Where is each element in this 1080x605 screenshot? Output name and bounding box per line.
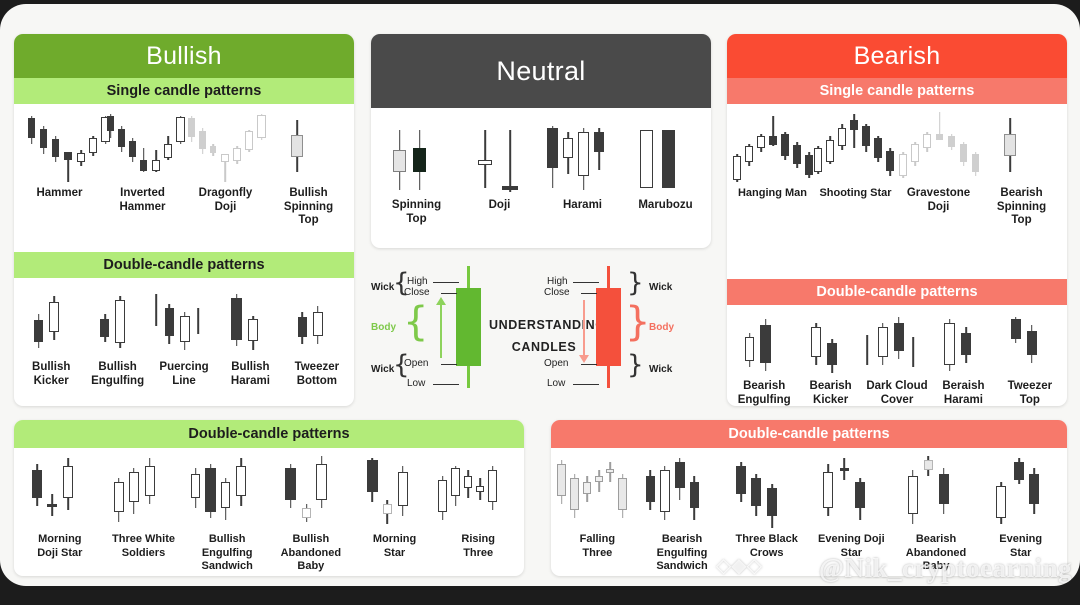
red-wick-top-label: Wick (649, 282, 672, 293)
red-body-label: Body (649, 322, 674, 333)
bearish-single-grid: Hanging Man Shooting Star (727, 104, 1067, 214)
pattern-bullish-kicker[interactable]: Bullish Kicker (18, 290, 84, 388)
bullish-single-grid: Hammer Inverted Hammer (14, 104, 354, 214)
pattern-label: Three White Soldiers (112, 533, 175, 560)
pattern-label: Bullish Abandoned Baby (269, 533, 353, 574)
green-body-brace: { (403, 302, 428, 342)
pattern-label: Puercing Line (159, 361, 208, 388)
pattern-label: Dark Cloud Cover (866, 380, 927, 406)
red-lower-wick (607, 366, 610, 388)
red-low-label: Low (547, 378, 565, 389)
pattern-dark-cloud-cover[interactable]: Dark Cloud Cover (864, 317, 930, 406)
green-wick-bottom-label: Wick (371, 364, 394, 375)
green-close-leader (441, 293, 457, 294)
red-upper-wick (607, 266, 610, 288)
green-lower-wick (467, 366, 470, 388)
pattern-label: Inverted Hammer (119, 187, 165, 214)
green-wick-top-label: Wick (371, 282, 394, 293)
red-wick-bottom-label: Wick (649, 364, 672, 375)
pattern-label: Beraish Harami (942, 380, 984, 406)
pattern-label: Bearish Spinning Top (997, 187, 1046, 228)
pattern-evening-star[interactable]: Evening Star (978, 456, 1063, 560)
panel-bullish-triple: Double-candle patterns Morning Doji Star (14, 420, 524, 576)
red-body (596, 288, 621, 366)
pattern-bearish-engulfing[interactable]: Bearish Engulfing (731, 317, 797, 406)
green-low-label: Low (407, 378, 425, 389)
pattern-spinning-top[interactable]: Spinning Top (375, 124, 458, 226)
pattern-bearish-spinning-top[interactable]: Bearish Spinning Top (980, 110, 1063, 228)
neutral-grid: Spinning Top Doji Hara (371, 108, 711, 242)
understanding-candles-diagram: High Close Open Low { { { Wick Wick Body… (371, 260, 711, 408)
bullish-triple-label: Double-candle patterns (14, 420, 524, 448)
green-low-leader (433, 384, 459, 385)
bearish-title: Bearish (727, 34, 1067, 78)
red-top-wick-brace: } (627, 270, 644, 296)
pattern-label: Hanging Man (738, 187, 807, 201)
red-low-leader (573, 384, 599, 385)
pattern-tweezer-bottom[interactable]: Tweezer Bottom (284, 290, 350, 388)
pattern-label: Evening Star (999, 533, 1042, 560)
pattern-label: Bullish Engulfing (91, 361, 144, 388)
bullish-double-grid: Bullish Kicker Bullish Engulfing (14, 284, 354, 392)
pattern-label: Hammer (36, 187, 82, 201)
pattern-label: Bearish Engulfing Sandwich (640, 533, 725, 574)
pattern-inverted-hammer[interactable]: Inverted Hammer (101, 110, 184, 214)
pattern-hammer[interactable]: Hammer (18, 110, 101, 201)
panel-neutral: Neutral Spinning Top Doji (371, 34, 711, 248)
pattern-morning-star[interactable]: Morning Star (353, 456, 437, 560)
pattern-label: Bullish Engulfing Sandwich (185, 533, 269, 574)
pattern-marubozu[interactable]: Marubozu (624, 124, 707, 213)
bearish-single-label: Single candle patterns (727, 78, 1067, 104)
pattern-label: Bullish Harami (231, 361, 270, 388)
cheatsheet-sheet: Bullish Single candle patterns Hammer (0, 4, 1080, 586)
pattern-label: Spinning Top (392, 199, 441, 226)
red-high-label: High (547, 276, 568, 287)
red-close-label: Close (544, 287, 570, 298)
green-direction-arrow (440, 304, 442, 358)
red-open-label: Open (544, 358, 568, 369)
bearish-triple-grid: Falling Three Bearish Engulfing Sandwich (551, 448, 1067, 574)
pattern-falling-three[interactable]: Falling Three (555, 456, 640, 560)
watermark-diamonds: ◇◆◇ (716, 553, 762, 578)
bullish-single-label: Single candle patterns (14, 78, 354, 104)
pattern-morning-doji-star[interactable]: Morning Doji Star (18, 456, 102, 560)
pattern-label: Bearish Kicker (810, 380, 852, 406)
red-body-brace: } (625, 302, 650, 342)
pattern-label: Evening Doji Star (818, 533, 885, 560)
bearish-triple-label: Double-candle patterns (551, 420, 1067, 448)
pattern-bullish-spinning-top[interactable]: Bullish Spinning Top (267, 110, 350, 228)
bearish-double-grid: Bearish Engulfing Bearish Kicker (727, 311, 1067, 406)
pattern-label: Rising Three (461, 533, 495, 560)
neutral-title: Neutral (371, 34, 711, 108)
pattern-hanging-man[interactable]: Hanging Man (731, 110, 814, 201)
green-bottom-wick-brace: { (393, 352, 410, 378)
red-open-leader (581, 364, 597, 365)
green-body (456, 288, 481, 366)
red-direction-arrow (583, 300, 585, 356)
pattern-gravestone-doji[interactable]: Gravestone Doji (897, 110, 980, 214)
pattern-label: Dragonfly Doji (199, 187, 253, 214)
pattern-bullish-abandoned-baby[interactable]: Bullish Abandoned Baby (269, 456, 353, 574)
pattern-bullish-harami[interactable]: Bullish Harami (217, 290, 283, 388)
pattern-evening-doji-star[interactable]: Evening Doji Star (809, 456, 894, 560)
red-high-leader (573, 282, 599, 283)
pattern-label: Morning Doji Star (37, 533, 82, 560)
green-high-leader (433, 282, 459, 283)
panel-bearish: Bearish Single candle patterns Hanging M… (727, 34, 1067, 406)
pattern-bearish-kicker[interactable]: Bearish Kicker (797, 317, 863, 406)
bullish-title: Bullish (14, 34, 354, 78)
pattern-dragonfly-doji[interactable]: Dragonfly Doji (184, 110, 267, 214)
pattern-label: Doji (489, 199, 511, 213)
green-top-wick-brace: { (393, 270, 410, 296)
pattern-label: Bullish Kicker (32, 361, 70, 388)
pattern-bearish-abandoned-baby[interactable]: Bearish Abandoned Baby (894, 456, 979, 574)
pattern-three-black-crows[interactable]: Three Black Crows (724, 456, 809, 560)
pattern-puercing-line[interactable]: Puercing Line (151, 290, 217, 388)
green-body-label: Body (371, 322, 396, 333)
panel-bullish: Bullish Single candle patterns Hammer (14, 34, 354, 406)
red-bottom-wick-brace: } (627, 352, 644, 378)
pattern-tweezer-top[interactable]: Tweezer Top (997, 317, 1063, 406)
pattern-label: Morning Star (373, 533, 416, 560)
bullish-triple-grid: Morning Doji Star Three White Soldiers (14, 448, 524, 574)
pattern-bullish-engulfing-sandwich[interactable]: Bullish Engulfing Sandwich (185, 456, 269, 574)
pattern-label: Tweezer Top (1008, 380, 1053, 406)
green-high-label: High (407, 276, 428, 287)
infographic-page: Bullish Single candle patterns Hammer (0, 0, 1080, 605)
pattern-label: Bearish Abandoned Baby (894, 533, 979, 574)
green-upper-wick (467, 266, 470, 288)
pattern-harami-neutral[interactable]: Harami (541, 124, 624, 213)
pattern-bullish-engulfing[interactable]: Bullish Engulfing (84, 290, 150, 388)
bearish-double-label: Double-candle patterns (727, 279, 1067, 305)
pattern-bearish-engulfing-sandwich[interactable]: Bearish Engulfing Sandwich (640, 456, 725, 574)
pattern-label: Harami (563, 199, 602, 213)
pattern-doji[interactable]: Doji (458, 124, 541, 213)
pattern-label: Gravestone Doji (907, 187, 970, 214)
green-open-leader (441, 364, 457, 365)
panel-bearish-triple: Double-candle patterns Falling Three (551, 420, 1067, 576)
pattern-label: Tweezer Bottom (295, 361, 340, 388)
pattern-label: Marubozu (638, 199, 692, 213)
pattern-label: Shooting Star (819, 187, 891, 201)
pattern-label: Bullish Spinning Top (284, 187, 333, 228)
pattern-rising-three[interactable]: Rising Three (436, 456, 520, 560)
pattern-three-white-soldiers[interactable]: Three White Soldiers (102, 456, 186, 560)
red-close-leader (581, 293, 597, 294)
pattern-shooting-star[interactable]: Shooting Star (814, 110, 897, 201)
bullish-double-label: Double-candle patterns (14, 252, 354, 278)
pattern-label: Bearish Engulfing (738, 380, 791, 406)
pattern-beraish-harami[interactable]: Beraish Harami (930, 317, 996, 406)
pattern-label: Falling Three (580, 533, 615, 560)
